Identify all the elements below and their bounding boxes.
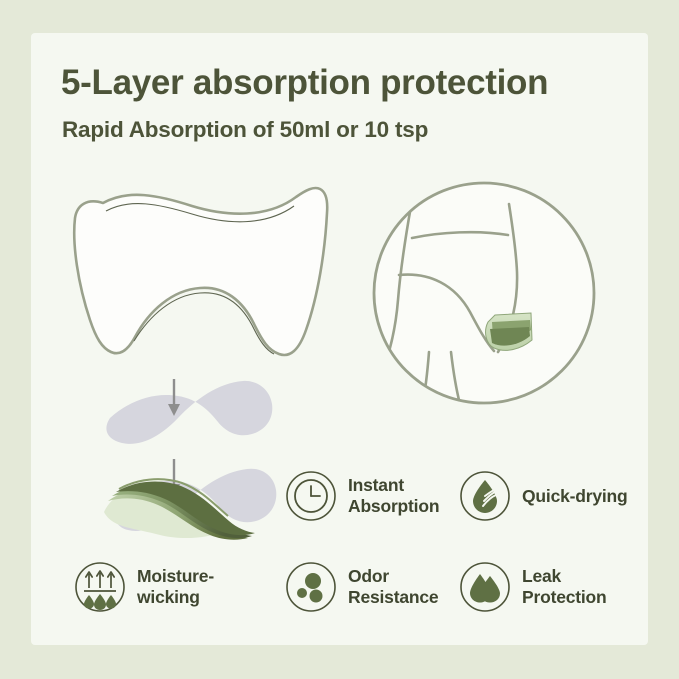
feature-leak-protection[interactable]: Leak Protection bbox=[459, 561, 607, 613]
feature-label: Instant Absorption bbox=[348, 475, 439, 517]
feature-odor-resistance[interactable]: Odor Resistance bbox=[285, 561, 438, 613]
feature-instant-absorption[interactable]: Instant Absorption bbox=[285, 470, 439, 522]
feature-quick-drying[interactable]: Quick-drying bbox=[459, 470, 628, 522]
page-subtitle: Rapid Absorption of 50ml or 10 tsp bbox=[62, 117, 428, 143]
feature-label: Moisture- wicking bbox=[137, 566, 214, 608]
infographic-stage: 5-Layer absorption protection Rapid Abso… bbox=[0, 0, 679, 679]
feature-label: Quick-drying bbox=[522, 486, 628, 507]
page-title: 5-Layer absorption protection bbox=[61, 63, 548, 103]
double-droplet-icon bbox=[459, 561, 511, 613]
arrows-up-droplets-icon bbox=[74, 561, 126, 613]
feature-label: Leak Protection bbox=[522, 566, 607, 608]
feature-moisture-wicking[interactable]: Moisture- wicking bbox=[74, 561, 214, 613]
three-dots-icon bbox=[285, 561, 337, 613]
clock-icon bbox=[285, 470, 337, 522]
feature-label: Odor Resistance bbox=[348, 566, 438, 608]
droplet-airflow-icon bbox=[459, 470, 511, 522]
